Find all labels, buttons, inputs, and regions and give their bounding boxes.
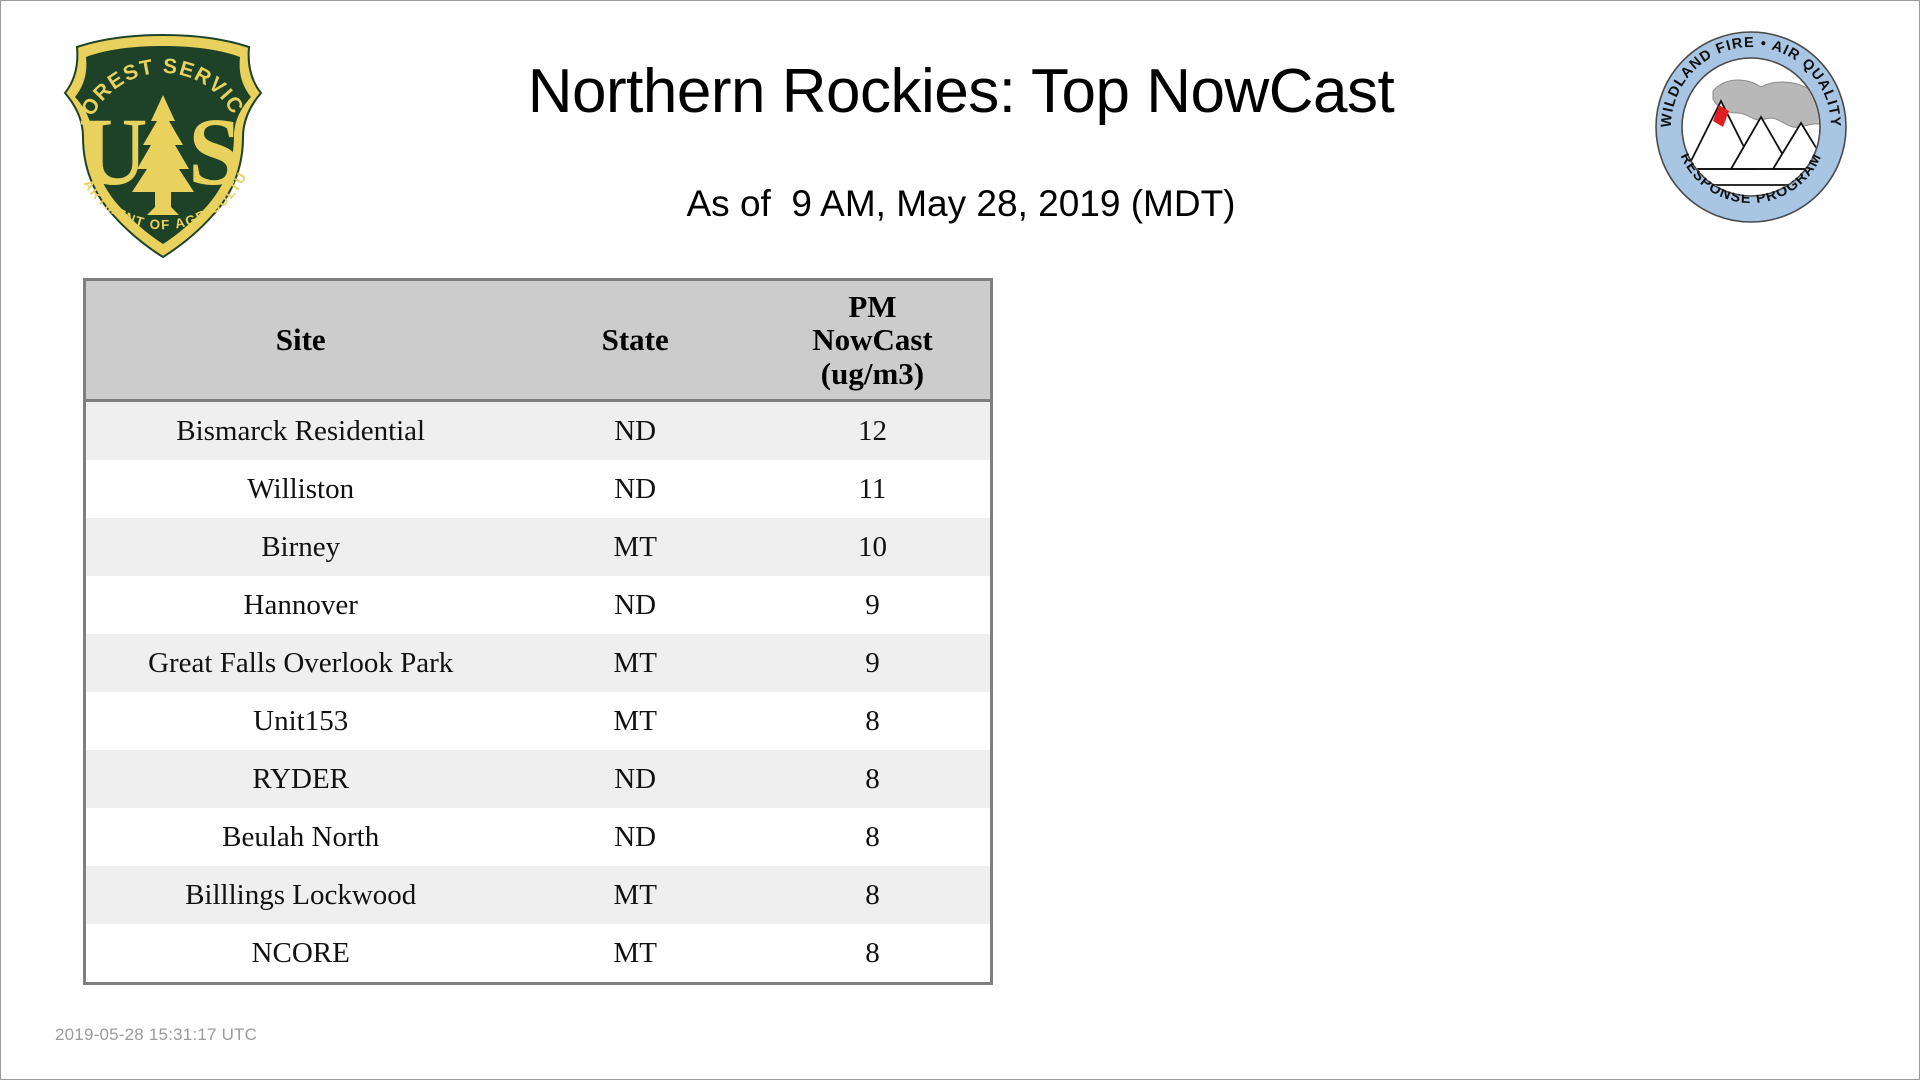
cell-state: ND [515,750,755,808]
cell-site: Unit153 [86,692,515,750]
table-row: RYDER ND 8 [86,750,990,808]
table-row: Birney MT 10 [86,518,990,576]
column-header-pm-nowcast: PM NowCast (ug/m3) [755,281,990,401]
cell-site: NCORE [86,924,515,982]
page-subtitle: As of 9 AM, May 28, 2019 (MDT) [261,183,1661,225]
cell-pm: 12 [755,401,990,461]
cell-state: MT [515,924,755,982]
cell-state: MT [515,866,755,924]
table-row: Great Falls Overlook Park MT 9 [86,634,990,692]
cell-pm: 11 [755,460,990,518]
cell-site: RYDER [86,750,515,808]
cell-pm: 10 [755,518,990,576]
table-row: Hannover ND 9 [86,576,990,634]
cell-pm: 9 [755,634,990,692]
cell-state: MT [515,634,755,692]
cell-site: Birney [86,518,515,576]
cell-site: Beulah North [86,808,515,866]
wildland-fire-air-quality-response-program-logo: WILDLAND FIRE • AIR QUALITY RESPONSE PRO… [1653,29,1849,225]
cell-pm: 8 [755,808,990,866]
column-header-site: Site [86,281,515,401]
nowcast-table-container: Site State PM NowCast (ug/m3) Bismarck R… [83,278,993,985]
cell-pm: 8 [755,750,990,808]
cell-state: ND [515,460,755,518]
nowcast-table: Site State PM NowCast (ug/m3) Bismarck R… [86,281,990,982]
cell-site: Billlings Lockwood [86,866,515,924]
footer-timestamp: 2019-05-28 15:31:17 UTC [55,1025,257,1045]
cell-site: Great Falls Overlook Park [86,634,515,692]
cell-pm: 8 [755,692,990,750]
page-title: Northern Rockies: Top NowCast [261,59,1661,124]
table-row: Billlings Lockwood MT 8 [86,866,990,924]
cell-state: ND [515,808,755,866]
usda-forest-service-shield-logo: FOREST SERVICE DEPARTMENT OF AGRICULTURE… [53,29,273,261]
cell-state: ND [515,576,755,634]
cell-state: ND [515,401,755,461]
svg-text:S: S [188,98,241,205]
table-row: Beulah North ND 8 [86,808,990,866]
cell-site: Williston [86,460,515,518]
cell-state: MT [515,692,755,750]
table-row: Unit153 MT 8 [86,692,990,750]
slide-canvas: FOREST SERVICE DEPARTMENT OF AGRICULTURE… [0,0,1920,1080]
column-header-state: State [515,281,755,401]
table-row: Williston ND 11 [86,460,990,518]
cell-state: MT [515,518,755,576]
cell-site: Bismarck Residential [86,401,515,461]
cell-pm: 9 [755,576,990,634]
table-header-row: Site State PM NowCast (ug/m3) [86,281,990,401]
cell-pm: 8 [755,866,990,924]
table-row: NCORE MT 8 [86,924,990,982]
cell-pm: 8 [755,924,990,982]
table-row: Bismarck Residential ND 12 [86,401,990,461]
cell-site: Hannover [86,576,515,634]
